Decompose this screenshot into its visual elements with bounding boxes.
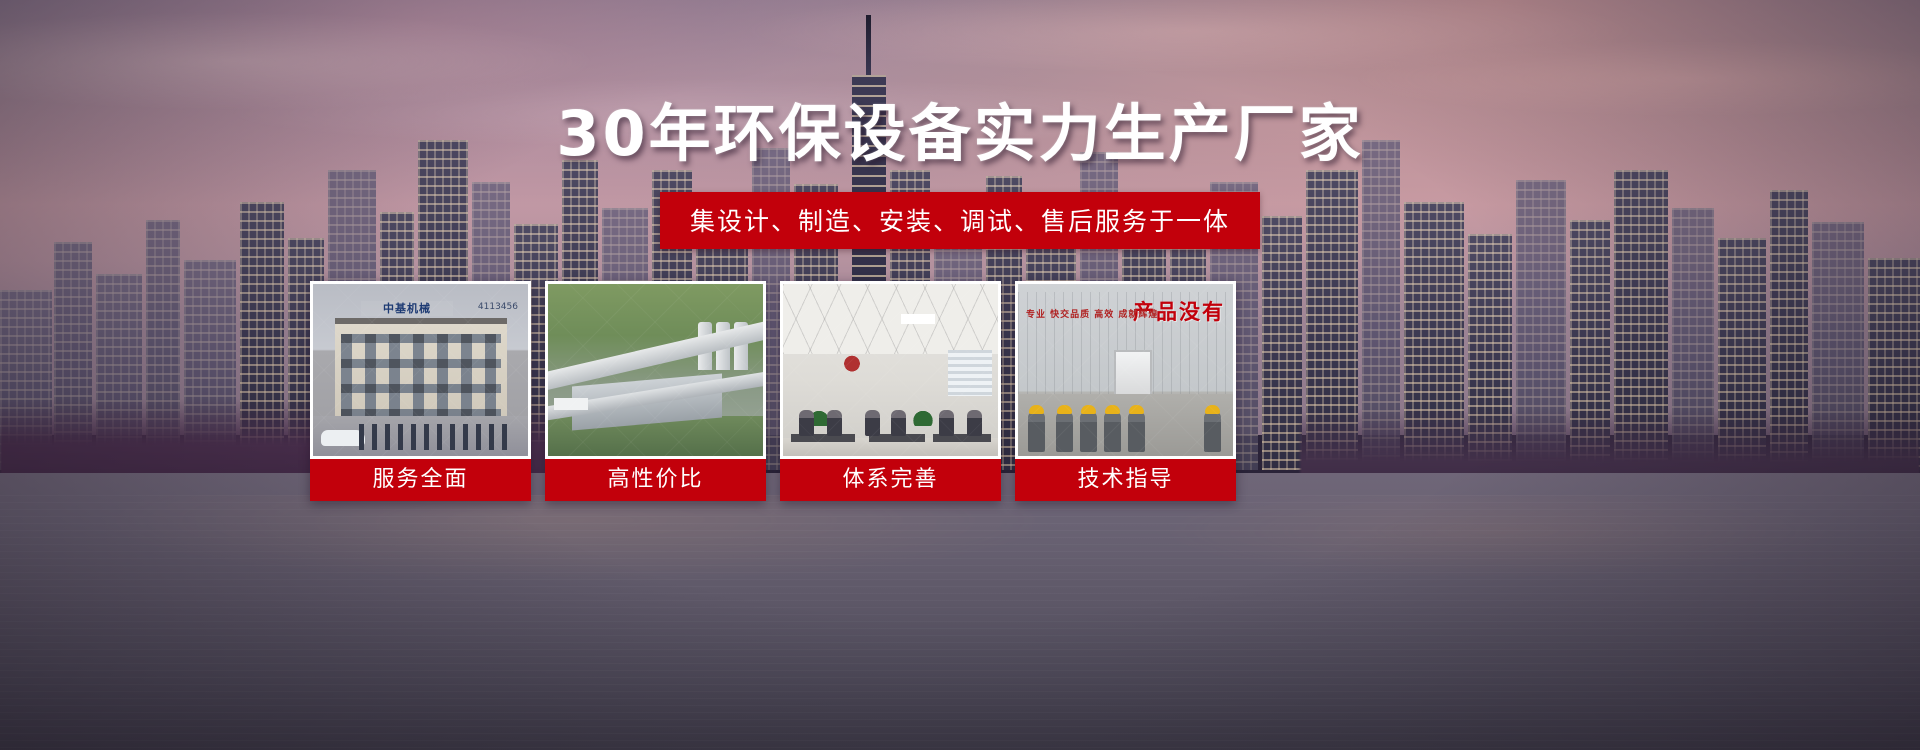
building-sign-text: 中基机械 xyxy=(361,301,453,316)
card-image-office-building: 中基机械 4113456 xyxy=(313,284,528,456)
card-image-industrial-plant xyxy=(548,284,763,456)
card-caption: 高性价比 xyxy=(545,459,766,501)
feature-card[interactable]: 中基机械 4113456 服务全面 xyxy=(310,281,531,501)
card-caption: 技术指导 xyxy=(1015,459,1236,501)
banner-subtitle-container: 集设计、制造、安装、调试、售后服务于一体 xyxy=(0,192,1920,249)
hero-banner: 30年环保设备实力生产厂家 集设计、制造、安装、调试、售后服务于一体 中基机械 … xyxy=(0,0,1920,750)
feature-card[interactable]: 高性价比 xyxy=(545,281,766,501)
banner-subtitle: 集设计、制造、安装、调试、售后服务于一体 xyxy=(660,192,1260,249)
card-caption: 服务全面 xyxy=(310,459,531,501)
card-image-office-interior xyxy=(783,284,998,456)
card-caption: 体系完善 xyxy=(780,459,1001,501)
building-phone-text: 4113456 xyxy=(478,302,518,312)
feature-card[interactable]: 产品没有 专业 快交品质 高效 成就辉煌 技术指导 xyxy=(1015,281,1236,501)
card-image-factory-workers: 产品没有 专业 快交品质 高效 成就辉煌 xyxy=(1018,284,1233,456)
feature-card-list: 中基机械 4113456 服务全面 xyxy=(310,281,1560,501)
feature-card[interactable]: 体系完善 xyxy=(780,281,1001,501)
banner-content: 30年环保设备实力生产厂家 集设计、制造、安装、调试、售后服务于一体 中基机械 … xyxy=(0,0,1920,750)
banner-headline: 30年环保设备实力生产厂家 xyxy=(0,103,1920,165)
factory-wall-slogan-small: 专业 快交品质 高效 成就辉煌 xyxy=(1026,310,1158,321)
